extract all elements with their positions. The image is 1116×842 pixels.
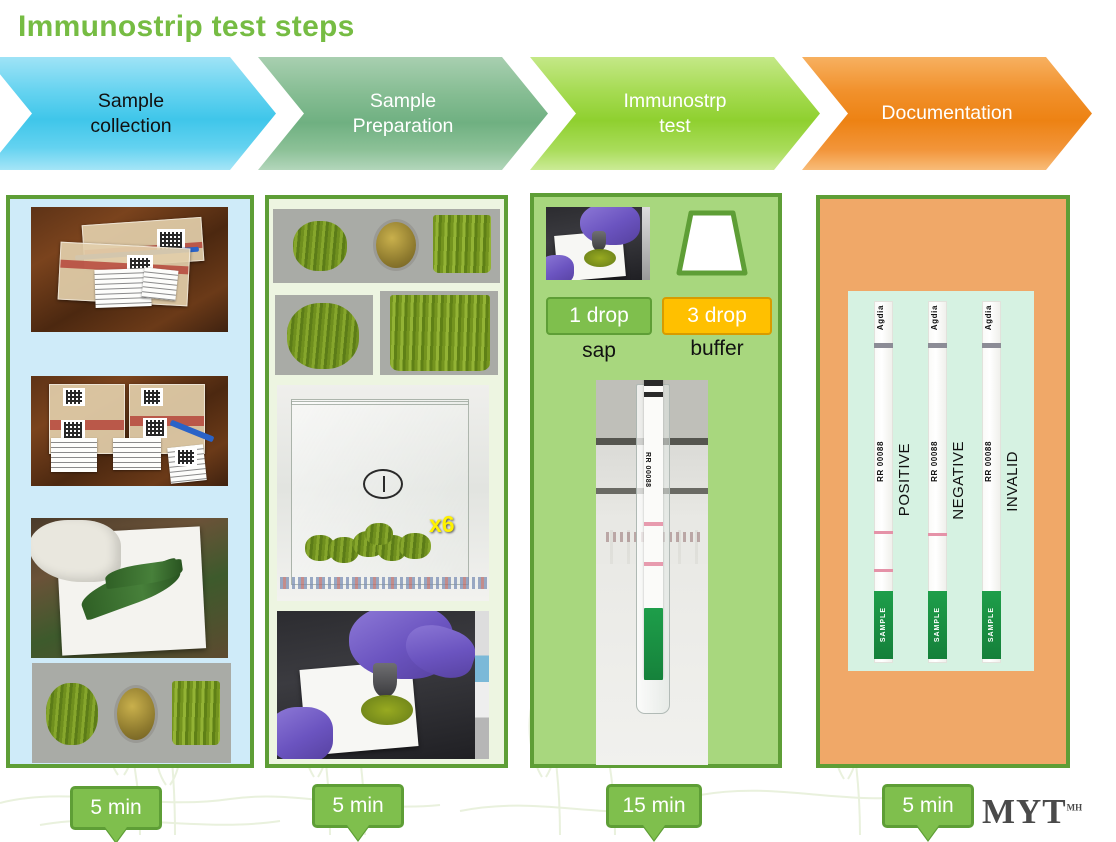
duration-sample-collection: 5 min	[70, 786, 162, 830]
documentation-inner-area: Agdia RR 00088 SAMPLE POSITIVE Agdia RR …	[848, 291, 1034, 671]
duration-sample-preparation: 5 min	[312, 784, 404, 828]
step-label-line1: Documentation	[881, 101, 1012, 125]
duration-immunostrip-test: 15 min	[606, 784, 702, 828]
photo-ziplock-bag-with-leaf-discs: x6	[277, 385, 489, 601]
photo-gloved-hand-grinding-sample	[277, 611, 489, 759]
result-strip-negative: Agdia RR 00088 SAMPLE NEGATIVE	[920, 301, 978, 663]
duration-label: 15 min	[622, 794, 685, 818]
strip-pad-label: SAMPLE	[988, 607, 995, 642]
strip-code: RR 00088	[984, 441, 993, 482]
page-title: Immunostrip test steps	[18, 10, 355, 44]
caption-sap: sap	[546, 339, 652, 363]
duration-label: 5 min	[332, 794, 383, 818]
step-chevron-sample-preparation[interactable]: Sample Preparation	[258, 57, 548, 170]
strip-pad-label: SAMPLE	[934, 607, 941, 642]
photo-multiple-labeled-sample-bags	[31, 376, 228, 486]
photo-leaf-discs-with-coin-for-scale	[32, 663, 231, 763]
panel-sample-collection	[6, 195, 254, 768]
strip-result-negative: NEGATIVE	[950, 441, 967, 520]
buffer-bottle-icon	[674, 207, 750, 281]
result-strip-positive: Agdia RR 00088 SAMPLE POSITIVE	[866, 301, 924, 663]
step-label-line2: Preparation	[353, 114, 454, 138]
process-step-band: Sample collection Sample Preparation Imm…	[0, 57, 1116, 175]
badge-sap-drops: 1 drop	[546, 297, 652, 335]
strip-brand: Agdia	[930, 305, 939, 330]
badge-buffer-drops-label: 3 drop	[687, 304, 747, 328]
photo-leaf-disc-closeup	[275, 295, 373, 375]
badge-buffer-drops: 3 drop	[662, 297, 772, 335]
photo-leaf-strip-closeup	[380, 291, 498, 375]
badge-sap-drops-label: 1 drop	[569, 304, 629, 328]
panel-sample-preparation: x6	[265, 195, 508, 768]
duration-label: 5 min	[902, 794, 953, 818]
myt-logo: MYTMH	[982, 792, 1082, 832]
duration-label: 5 min	[90, 796, 141, 820]
bag-number-mark	[363, 469, 403, 499]
strip-brand: Agdia	[984, 305, 993, 330]
photo-sample-bags-with-qr-labels-on-wood	[31, 207, 228, 332]
step-label-line1: Sample	[90, 89, 171, 113]
strip-code: RR 00088	[930, 441, 939, 482]
myt-logo-mark: MH	[1067, 802, 1083, 812]
step-label-line2: collection	[90, 114, 171, 138]
photo-immunostrip-in-tube: RR 00088	[596, 380, 708, 765]
strip-result-invalid: INVALID	[1004, 451, 1021, 512]
panel-documentation: Agdia RR 00088 SAMPLE POSITIVE Agdia RR …	[816, 195, 1070, 768]
step-label-line2: test	[624, 114, 727, 138]
multiplier-label: x6	[429, 511, 455, 538]
photo-gloved-hand-extracting-sap	[546, 207, 650, 280]
panel-immunostrip-test: 1 drop 3 drop sap buffer RR 00088	[530, 193, 782, 768]
step-chevron-immunostrip-test[interactable]: Immunostrp test	[530, 57, 820, 170]
strip-result-positive: POSITIVE	[896, 443, 913, 516]
photo-leaf-disc-coin-and-leaf-strip	[273, 209, 500, 283]
myt-logo-text: MYT	[982, 792, 1067, 831]
step-label-line1: Sample	[353, 89, 454, 113]
strip-cap	[874, 343, 893, 348]
caption-buffer: buffer	[662, 337, 772, 361]
step-chevron-documentation[interactable]: Documentation	[802, 57, 1092, 170]
step-label-line1: Immunostrp	[624, 89, 727, 113]
strip-code: RR 00088	[876, 441, 885, 482]
result-strip-invalid: Agdia RR 00088 SAMPLE INVALID	[974, 301, 1032, 663]
strip-pad-label: SAMPLE	[880, 607, 887, 642]
strip-brand: Agdia	[876, 305, 885, 330]
step-chevron-sample-collection[interactable]: Sample collection	[0, 57, 276, 170]
photo-gloved-hand-folding-leaf-in-paper	[31, 518, 228, 658]
duration-documentation: 5 min	[882, 784, 974, 828]
